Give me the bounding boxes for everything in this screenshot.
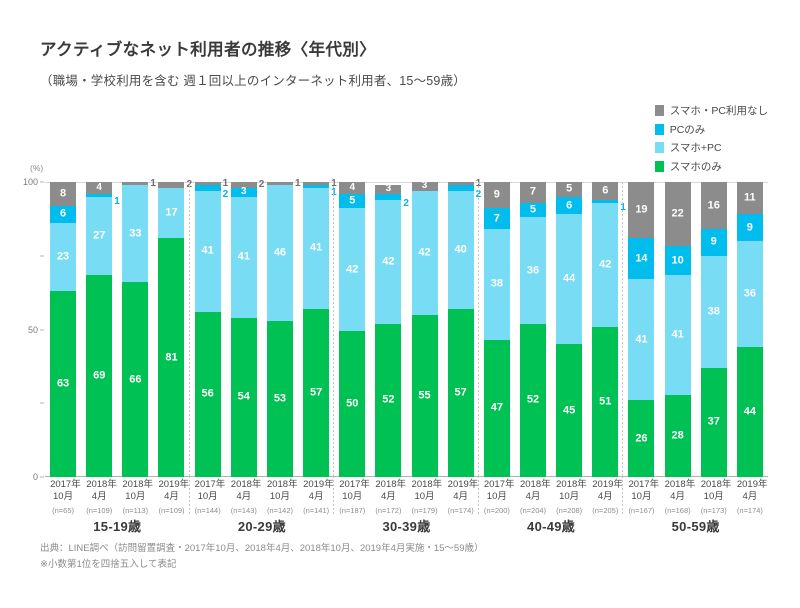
legend-swatch-icon [655,142,664,153]
bar-segment-value: 41 [231,252,257,263]
bar-segment-pc-only[interactable]: 3 [231,188,257,197]
bar-segment-smartphone-pc[interactable]: 42 [592,203,618,327]
bar-segment-pc-only[interactable]: 7 [484,208,510,228]
bar-segment-smartphone-only[interactable]: 28 [665,395,691,477]
x-tick-sample-size: (n=179) [412,506,438,515]
bar-segment-value: 46 [267,247,293,258]
page-title: アクティブなネット利用者の推移〈年代別〉 [40,36,376,60]
x-tick-month: 4月 [665,491,691,503]
x-tick-year: 2018年 [701,479,727,491]
bar-segment-value: 52 [375,395,401,406]
bar-segment-value: 52 [520,395,546,406]
bar-segment-value: 19 [628,205,654,216]
x-tick-month: 4月 [231,491,257,503]
bar-segment-value: 7 [520,187,546,198]
stacked-bar[interactable]: 324252 [375,182,401,477]
age-band-label: 15-19歳 [45,516,190,535]
bar-segment-value: 4 [339,183,365,193]
bar-segment-value: 54 [231,392,257,403]
bar-segment-smartphone-pc[interactable]: 42 [339,208,365,331]
bar-segment-smartphone-pc[interactable]: 41 [195,191,221,312]
x-tick-sample-size: (n=204) [520,506,546,515]
bar-segment-smartphone-pc[interactable]: 44 [556,214,582,344]
x-tick-sample-size: (n=205) [592,506,618,515]
x-tick-sample-size: (n=200) [484,506,510,515]
bar-segment-value: 16 [701,200,727,211]
legend-item: PCのみ [655,122,768,137]
bar-segment-value: 6 [592,185,618,196]
x-tick-sample-size: (n=174) [737,506,763,515]
bar-segment-value: 42 [375,256,401,267]
x-tick-month: 10月 [50,491,76,503]
bar-segment-smartphone-pc[interactable]: 41 [628,279,654,400]
x-tick-sample-size: (n=208) [556,506,582,515]
bar-segment-pc-only[interactable]: 14 [628,238,654,279]
x-tick-month: 4月 [303,491,329,503]
bar-segment-no-use[interactable]: 3 [412,182,438,191]
y-axis-unit: (%) [30,163,43,173]
page-subtitle: （職場・学校利用を含む 週１回以上のインターネット利用者、15〜59歳） [40,70,466,89]
chart-legend: スマホ・PC利用なしPCのみスマホ+PCスマホのみ [655,103,768,174]
stacked-bar[interactable]: 22104128 [665,182,691,477]
bar-segment-value: 5 [520,205,546,216]
x-tick-sample-size: (n=109) [158,506,184,515]
bar-segment-value: 50 [339,398,365,409]
x-tick-year: 2017年 [484,479,510,491]
bar-segment-smartphone-pc[interactable]: 42 [375,200,401,324]
bar-segment-value: 22 [665,209,691,220]
x-tick-sample-size: (n=141) [303,506,329,515]
age-band-labels: 15-19歳20-29歳30-39歳40-49歳50-59歳 [45,516,768,535]
bar-segment-value: 27 [86,231,112,242]
bar-segment-pc-only[interactable]: 6 [556,197,582,215]
stacked-bar[interactable]: 124057 [448,182,474,477]
x-tick-sample-size: (n=109) [86,506,112,515]
bar-segment-smartphone-only[interactable]: 44 [737,347,763,477]
bar-segment-value: 66 [122,374,148,385]
x-tick-month: 10月 [628,491,654,503]
x-tick-month: 4月 [520,491,546,503]
x-tick-year: 2017年 [195,479,221,491]
age-band-label: 50-59歳 [623,516,768,535]
footnote-line: 出典：LINE調べ（訪問留置調査・2017年10月、2018年4月、2018年1… [40,541,484,557]
bar-segment-value: 55 [412,390,438,401]
bar-segment-value: 11 [737,193,763,204]
plot-area: 8623634127691336621781124156234154146531… [45,182,768,477]
bar-segment-smartphone-pc[interactable]: 38 [701,256,727,368]
x-tick-year: 2018年 [556,479,582,491]
bar-segment-value: 41 [195,246,221,257]
bar-segment-smartphone-pc[interactable]: 40 [448,191,474,309]
legend-item-label: スマホのみ [670,159,722,174]
y-axis-tick [40,477,44,478]
bar-segment-no-use[interactable]: 19 [628,182,654,238]
bar-segment-value: 9 [701,237,727,248]
bar-segment-value: 53 [267,393,293,404]
bar-segment-pc-only[interactable]: 5 [339,194,365,209]
stacked-bar[interactable]: 973847 [484,182,510,477]
x-tick-sample-size: (n=172) [375,506,401,515]
y-axis-tick [40,182,44,183]
age-band-label: 30-39歳 [334,516,479,535]
footnotes: 出典：LINE調べ（訪問留置調査・2017年10月、2018年4月、2018年1… [40,541,484,573]
bar-segment-smartphone-pc[interactable]: 36 [737,241,763,347]
bar-segment-value: 17 [158,207,184,218]
x-tick-month: 4月 [158,491,184,503]
x-tick-year: 2018年 [86,479,112,491]
bar-segment-value: 5 [339,195,365,206]
bar-segment-no-use[interactable]: 4 [339,182,365,194]
footnote-line: ※小数第1位を四捨五入して表記 [40,557,484,573]
stacked-bar[interactable]: 614251 [592,182,618,477]
x-tick-year: 2017年 [339,479,365,491]
bar-segment-value: 9 [737,222,763,233]
legend-item-label: スマホ+PC [670,140,722,155]
bar-segment-smartphone-only[interactable]: 53 [267,321,293,477]
x-tick-sample-size: (n=167) [628,506,654,515]
bar-segment-value: 14 [628,253,654,264]
x-tick-month: 4月 [375,491,401,503]
bar-segment-value: 38 [701,306,727,317]
x-tick-year: 2018年 [231,479,257,491]
x-tick-month: 10月 [339,491,365,503]
stacked-bar[interactable]: 14653 [267,182,293,477]
bar-segment-smartphone-pc[interactable]: 33 [122,185,148,282]
x-tick-year: 2018年 [375,479,401,491]
y-axis-tick [40,329,44,330]
x-tick-year: 2019年 [303,479,329,491]
x-tick-sample-size: (n=144) [195,506,221,515]
bar-segment-value: 57 [448,387,474,398]
bar-segment-smartphone-only[interactable]: 52 [375,324,401,477]
bar-segment-value: 26 [628,433,654,444]
stacked-bar[interactable]: 19144126 [628,182,654,477]
bar-segment-value: 40 [448,244,474,255]
age-band-label: 40-49歳 [479,516,624,535]
bar-segment-value: 38 [484,279,510,290]
bar-segment-value: 51 [592,396,618,407]
bar-segment-smartphone-only[interactable]: 57 [448,309,474,477]
legend-swatch-icon [655,124,664,135]
x-tick-year: 2018年 [122,479,148,491]
x-tick-month: 10月 [195,491,221,503]
bar-segment-no-use[interactable]: 5 [556,182,582,197]
bar-segment-smartphone-only[interactable]: 56 [195,312,221,477]
x-tick-year: 2018年 [267,479,293,491]
bar-segment-no-use[interactable]: 6 [592,182,618,200]
bar-group: 191441262210412816938371193644 [623,182,768,477]
bar-groups: 8623634127691336621781124156234154146531… [45,182,768,477]
bar-segment-smartphone-pc[interactable]: 23 [50,223,76,291]
bar-segment-smartphone-only[interactable]: 47 [484,340,510,477]
stacked-bar[interactable]: 1693837 [701,182,727,477]
bar-segment-value: 33 [122,228,148,239]
bar-segment-smartphone-pc[interactable]: 36 [520,217,546,323]
y-axis-tick [40,403,44,404]
bar-segment-value: 45 [556,405,582,416]
x-tick-month: 10月 [122,491,148,503]
x-tick-month: 4月 [592,491,618,503]
bar-segment-value: 36 [737,289,763,300]
bar-segment-no-use[interactable]: 11 [737,182,763,214]
bar-group: 45425032425234255124057 [334,182,479,477]
x-tick-year: 2017年 [50,479,76,491]
x-tick-year: 2018年 [412,479,438,491]
stacked-bar[interactable]: 124156 [195,182,221,477]
stacked-bar[interactable]: 412769 [86,182,112,477]
bar-segment-smartphone-only[interactable]: 63 [50,291,76,477]
bar-segment-pc-only[interactable]: 6 [50,206,76,224]
stacked-bar[interactable]: 862363 [50,182,76,477]
bar-segment-value: 69 [86,371,112,382]
bar-segment-pc-only[interactable]: 9 [701,229,727,256]
bar-segment-value: 81 [158,352,184,363]
legend-item-label: PCのみ [670,122,706,137]
bar-segment-smartphone-only[interactable]: 50 [339,331,365,477]
bar-segment-smartphone-only[interactable]: 69 [86,275,112,477]
x-tick-sample-size: (n=113) [122,506,148,515]
bar-segment-smartphone-only[interactable]: 66 [122,282,148,477]
bar-segment-smartphone-only[interactable]: 37 [701,368,727,477]
x-tick-month: 10月 [412,491,438,503]
stacked-bar[interactable]: 114157 [303,182,329,477]
bar-segment-value: 36 [520,265,546,276]
bar-segment-value: 23 [50,252,76,263]
y-axis-tick-label: 100 [23,177,38,187]
bar-segment-smartphone-pc[interactable]: 38 [484,229,510,340]
x-tick-year: 2019年 [737,479,763,491]
bar-segment-value: 6 [556,200,582,211]
bar-segment-value: 47 [484,403,510,414]
bar-segment-value: 56 [195,389,221,400]
bar-segment-value: 7 [484,213,510,224]
stacked-bar[interactable]: 21781 [158,182,184,477]
x-tick-year: 2019年 [158,479,184,491]
stacked-bar[interactable]: 234154 [231,182,257,477]
x-tick-year: 2019年 [448,479,474,491]
bar-segment-smartphone-only[interactable]: 52 [520,324,546,477]
bar-segment-value: 37 [701,417,727,428]
legend-swatch-icon [655,161,664,172]
bar-segment-no-use[interactable]: 8 [50,182,76,206]
bar-segment-value: 44 [556,274,582,285]
bar-segment-smartphone-pc[interactable]: 41 [665,275,691,395]
bar-segment-smartphone-pc[interactable]: 46 [267,185,293,321]
x-tick-sample-size: (n=173) [701,506,727,515]
bar-segment-value: 9 [484,190,510,201]
x-tick-sample-size: (n=174) [448,506,474,515]
legend-item: スマホ+PC [655,140,768,155]
legend-item: スマホ・PC利用なし [655,103,768,118]
y-axis-tick-label: 0 [33,472,38,482]
x-tick-sample-size: (n=65) [50,506,76,515]
bar-segment-value: 4 [86,183,112,193]
bar-segment-value: 6 [50,209,76,220]
x-tick-year: 2018年 [665,479,691,491]
bar-segment-value: 41 [303,243,329,254]
stacked-bar[interactable]: 1193644 [737,182,763,477]
x-tick-year: 2017年 [628,479,654,491]
bar-segment-value: 10 [665,255,691,266]
stacked-bar[interactable]: 753652 [520,182,546,477]
x-tick-month: 4月 [448,491,474,503]
bar-segment-value: 41 [628,334,654,345]
bar-segment-value: 57 [303,387,329,398]
bar-segment-smartphone-only[interactable]: 57 [303,309,329,477]
bar-group: 8623634127691336621781 [45,182,190,477]
x-tick-sample-size: (n=187) [339,506,365,515]
bar-segment-no-use[interactable]: 16 [701,182,727,229]
bar-segment-value: 28 [665,431,691,442]
bar-segment-pc-only[interactable]: 9 [737,214,763,241]
x-tick-month: 4月 [737,491,763,503]
bar-segment-smartphone-pc[interactable]: 42 [412,191,438,315]
bar-segment-smartphone-pc[interactable]: 17 [158,188,184,238]
stacked-bar[interactable]: 454250 [339,182,365,477]
bar-segment-pc-only[interactable]: 10 [665,246,691,275]
bar-segment-no-use[interactable]: 22 [665,182,691,246]
x-tick-sample-size: (n=142) [267,506,293,515]
legend-item: スマホのみ [655,159,768,174]
x-tick-month: 10月 [556,491,582,503]
bar-segment-no-use[interactable]: 9 [484,182,510,208]
bar-segment-no-use[interactable]: 7 [520,182,546,203]
bar-segment-smartphone-pc[interactable]: 41 [231,197,257,318]
x-tick-month: 10月 [701,491,727,503]
bar-segment-smartphone-only[interactable]: 54 [231,318,257,477]
legend-swatch-icon [655,105,664,116]
bar-segment-smartphone-only[interactable]: 81 [158,238,184,477]
bar-segment-pc-only[interactable]: 5 [520,203,546,218]
bar-segment-smartphone-only[interactable]: 26 [628,400,654,477]
stacked-bar[interactable]: 564445 [556,182,582,477]
bar-segment-value: 63 [50,379,76,390]
bar-segment-value: 44 [737,407,763,418]
bar-segment-value: 41 [665,330,691,341]
y-axis-tick [40,255,44,256]
x-tick-month: 10月 [267,491,293,503]
bar-segment-value: 42 [339,264,365,275]
bar-segment-value: 8 [50,188,76,199]
bar-segment-smartphone-only[interactable]: 51 [592,327,618,477]
stacked-bar[interactable]: 13366 [122,182,148,477]
x-tick-year: 2018年 [520,479,546,491]
bar-segment-smartphone-pc[interactable]: 27 [86,197,112,276]
x-tick-sample-size: (n=168) [665,506,691,515]
bar-group: 12415623415414653114157 [190,182,335,477]
bar-segment-value: 42 [592,259,618,270]
x-tick-month: 4月 [86,491,112,503]
x-tick-sample-size: (n=143) [231,506,257,515]
age-band-label: 20-29歳 [190,516,335,535]
legend-item-label: スマホ・PC利用なし [670,103,768,118]
bar-segment-value: 5 [556,184,582,195]
bar-segment-smartphone-only[interactable]: 55 [412,315,438,477]
bar-segment-smartphone-only[interactable]: 45 [556,344,582,477]
x-tick-year: 2019年 [592,479,618,491]
bar-segment-no-use[interactable]: 4 [86,182,112,194]
x-tick-month: 10月 [484,491,510,503]
stacked-bar[interactable]: 34255 [412,182,438,477]
bar-group: 973847753652564445614251 [479,182,624,477]
bar-segment-smartphone-pc[interactable]: 41 [303,188,329,309]
bar-segment-value: 42 [412,247,438,258]
y-axis-tick-label: 50 [28,325,38,335]
bar-segment-no-use[interactable]: 3 [375,185,401,194]
